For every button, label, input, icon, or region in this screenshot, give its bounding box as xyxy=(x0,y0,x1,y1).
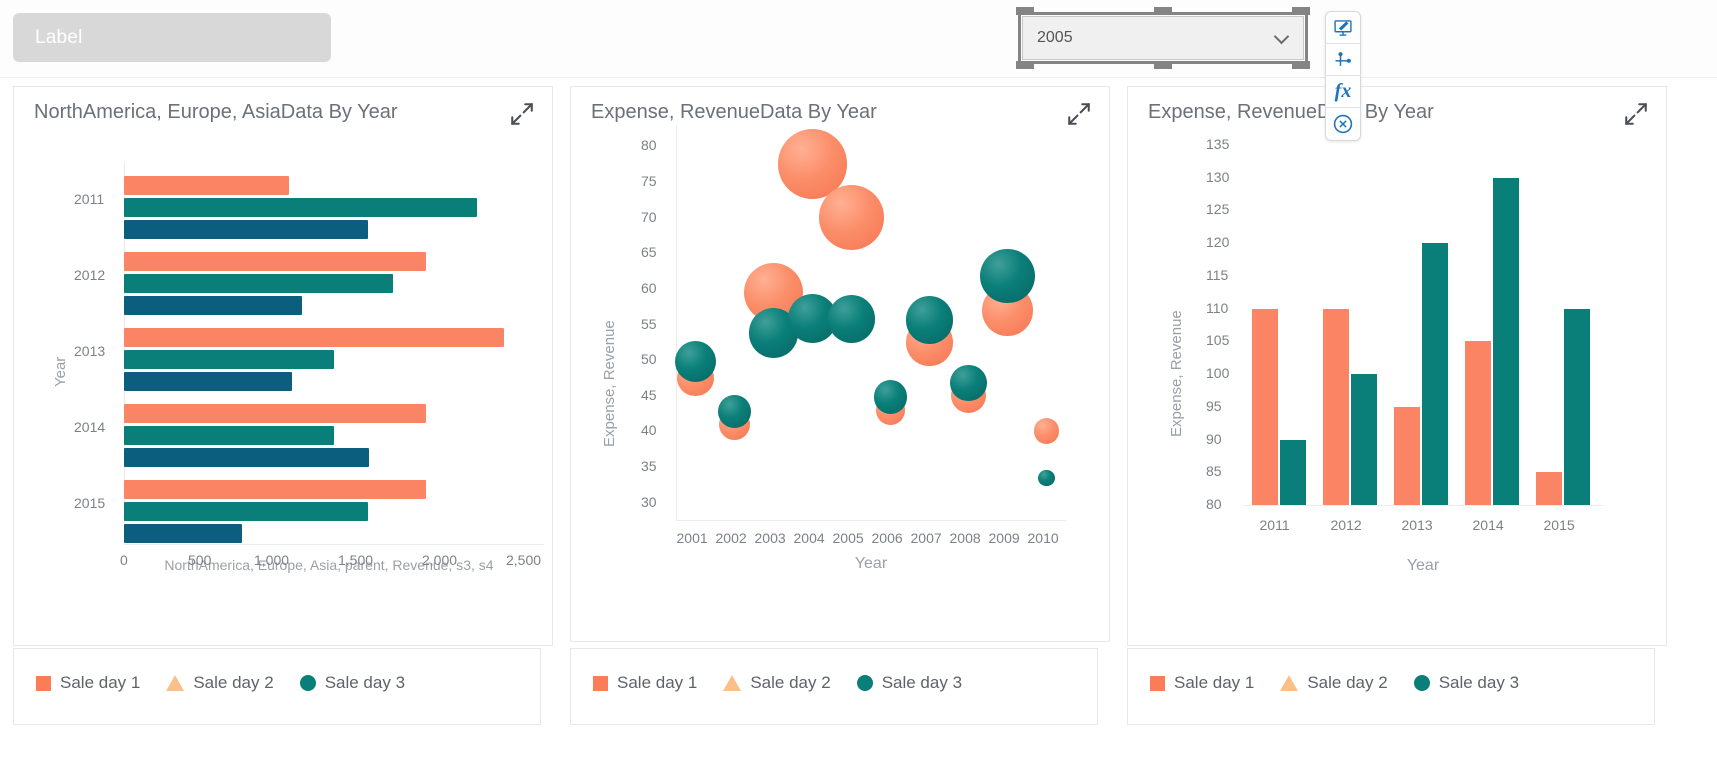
chevron-down-icon xyxy=(1275,31,1289,45)
chart-panel-1: NorthAmerica, Europe, AsiaData By Year Y… xyxy=(13,86,553,646)
chart-2-ytick: 80 xyxy=(641,137,657,153)
chart-2-xtick: 2002 xyxy=(716,530,747,546)
chart-2-bubble xyxy=(906,296,954,344)
chart-3-ytick: 105 xyxy=(1206,332,1229,348)
chart-3-ytick: 100 xyxy=(1206,365,1229,381)
chart-3-column xyxy=(1280,440,1306,505)
resize-handle-top-left[interactable] xyxy=(1016,7,1034,15)
legend-container: Sale day 1 Sale day 2 Sale day 3 Sale da… xyxy=(0,648,1717,778)
legend-label: Sale day 2 xyxy=(750,673,830,693)
chart-2-title: Expense, RevenueData By Year xyxy=(591,101,877,124)
year-select[interactable]: 2005 xyxy=(1022,16,1304,60)
chart-1-bar xyxy=(124,274,393,293)
chart-2-ytick: 40 xyxy=(641,422,657,438)
expand-diagonal-icon[interactable] xyxy=(509,101,535,127)
chart-2-xtick: 2005 xyxy=(833,530,864,546)
expand-diagonal-icon[interactable] xyxy=(1066,101,1092,127)
circle-marker-icon xyxy=(1414,675,1430,691)
chart-1-xtick: 1,000 xyxy=(254,552,289,568)
square-marker-icon xyxy=(36,676,51,691)
chart-2-x-axis-line xyxy=(676,520,1066,521)
chart-2-bubble xyxy=(1038,470,1054,486)
chart-2-xtick: 2008 xyxy=(950,530,981,546)
chart-2-bubble xyxy=(819,185,884,250)
legend-label: Sale day 3 xyxy=(325,673,405,693)
triangle-marker-icon xyxy=(166,675,184,691)
chart-3-column xyxy=(1252,309,1278,505)
chart-1-bar xyxy=(124,480,426,499)
chart-3-xtick: 2012 xyxy=(1331,517,1362,533)
year-select-wrapper[interactable]: 2005 xyxy=(1018,12,1308,64)
triangle-marker-icon xyxy=(1280,675,1298,691)
legend-label: Sale day 1 xyxy=(60,673,140,693)
chart-2-bubble xyxy=(718,395,751,428)
chart-3-ytick: 135 xyxy=(1206,136,1229,152)
chart-2-xtick: 2009 xyxy=(989,530,1020,546)
chart-2-bubble xyxy=(950,365,987,402)
chart-2-xtick: 2007 xyxy=(911,530,942,546)
chart-2-ytick: 70 xyxy=(641,209,657,225)
chart-1-xtick: 0 xyxy=(120,552,128,568)
chart-2-plot-area xyxy=(676,132,1066,517)
legend-card-3: Sale day 1 Sale day 2 Sale day 3 xyxy=(1127,648,1655,725)
legend-item-sale-day-1[interactable]: Sale day 1 xyxy=(1150,673,1254,693)
chart-1-bar xyxy=(124,426,334,445)
chart-3-column xyxy=(1493,178,1519,505)
chart-3-ytick: 95 xyxy=(1206,398,1222,414)
square-marker-icon xyxy=(1150,676,1165,691)
chart-2-ytick: 75 xyxy=(641,173,657,189)
chart-1-bar xyxy=(124,328,504,347)
chart-1-bar xyxy=(124,502,368,521)
chart-1-x-axis-line xyxy=(124,544,544,545)
formula-fx-label: fx xyxy=(1335,80,1352,103)
chart-1-bar xyxy=(124,220,368,239)
chart-3-column xyxy=(1351,374,1377,505)
chart-3-ytick: 130 xyxy=(1206,169,1229,185)
label-placeholder-text: Label xyxy=(35,27,83,49)
chart-3-xtick: 2015 xyxy=(1544,517,1575,533)
circle-marker-icon xyxy=(857,675,873,691)
chart-2-xtick: 2006 xyxy=(872,530,903,546)
chart-1-ytick: 2014 xyxy=(74,419,105,435)
chart-1-bar xyxy=(124,176,289,195)
chart-2-ytick: 60 xyxy=(641,280,657,296)
chart-2-bubble xyxy=(980,249,1034,303)
chart-1-xtick: 2,500 xyxy=(506,552,541,568)
chart-2-xtick: 2001 xyxy=(677,530,708,546)
chart-3-column xyxy=(1323,309,1349,505)
resize-handle-bottom-center[interactable] xyxy=(1154,61,1172,69)
square-marker-icon xyxy=(593,676,608,691)
chart-3-column xyxy=(1394,407,1420,505)
chart-1-bar xyxy=(124,404,426,423)
chart-1-x-axis-title: NorthAmerica, Europe, Asia, parent, Reve… xyxy=(114,557,544,573)
chart-3-x-axis-line xyxy=(1243,505,1603,506)
chart-2-xtick: 2003 xyxy=(755,530,786,546)
chart-1-bar xyxy=(124,372,292,391)
chart-1-ytick: 2011 xyxy=(74,191,104,207)
chart-2-bubble xyxy=(1034,418,1060,444)
chart-2-ytick: 50 xyxy=(641,351,657,367)
chart-panel-3: Expense, RevenueData By Year Expense, Re… xyxy=(1127,86,1667,646)
chart-1-plot-area xyxy=(124,162,544,542)
chart-3-ytick: 80 xyxy=(1206,496,1222,512)
chart-3-ytick: 115 xyxy=(1206,267,1228,283)
legend-item-sale-day-1[interactable]: Sale day 1 xyxy=(36,673,140,693)
chart-1-ytick: 2012 xyxy=(74,267,105,283)
chart-1-xtick: 2,000 xyxy=(422,552,457,568)
chart-3-ytick: 110 xyxy=(1206,300,1228,316)
close-circle-icon[interactable] xyxy=(1325,108,1361,140)
chart-3-ytick: 90 xyxy=(1206,431,1222,447)
charts-container: NorthAmerica, Europe, AsiaData By Year Y… xyxy=(0,86,1717,686)
chart-2-ytick: 35 xyxy=(641,458,657,474)
chart-2-ytick: 55 xyxy=(641,316,657,332)
resize-handle-bottom-right[interactable] xyxy=(1292,61,1310,69)
chart-1-bar xyxy=(124,252,426,271)
floating-toolbar: fx xyxy=(1325,11,1361,141)
resize-handle-bottom-left[interactable] xyxy=(1016,61,1034,69)
chart-2-ytick: 30 xyxy=(641,494,657,510)
chart-3-column xyxy=(1465,341,1491,505)
legend-item-sale-day-1[interactable]: Sale day 1 xyxy=(593,673,697,693)
circle-marker-icon xyxy=(300,675,316,691)
legend-label: Sale day 3 xyxy=(882,673,962,693)
chart-3-column xyxy=(1422,243,1448,505)
legend-item-sale-day-3[interactable]: Sale day 3 xyxy=(1414,673,1519,693)
legend-card-2: Sale day 1 Sale day 2 Sale day 3 xyxy=(570,648,1098,725)
chart-1-xtick: 1,500 xyxy=(338,552,373,568)
legend-label: Sale day 2 xyxy=(193,673,273,693)
chart-2-x-axis-title: Year xyxy=(676,555,1066,573)
chart-1-xtick: 500 xyxy=(188,552,211,568)
resize-handle-top-right[interactable] xyxy=(1292,7,1310,15)
legend-label: Sale day 1 xyxy=(1174,673,1254,693)
chart-3-title: Expense, RevenueData By Year xyxy=(1148,101,1434,124)
chart-1-bar xyxy=(124,296,302,315)
triangle-marker-icon xyxy=(723,675,741,691)
chart-1-bar xyxy=(124,524,242,543)
legend-item-sale-day-2[interactable]: Sale day 2 xyxy=(166,673,273,693)
chart-3-plot-area xyxy=(1243,145,1598,505)
chart-3-column xyxy=(1536,472,1562,505)
chart-3-ytick: 120 xyxy=(1206,234,1229,250)
chart-3-ytick: 85 xyxy=(1206,463,1222,479)
chart-3-xtick: 2011 xyxy=(1260,517,1290,533)
chart-1-title: NorthAmerica, Europe, AsiaData By Year xyxy=(34,101,398,124)
chart-3-y-axis-title: Expense, Revenue xyxy=(1168,310,1185,437)
legend-item-sale-day-2[interactable]: Sale day 2 xyxy=(1280,673,1387,693)
formula-fx-icon[interactable]: fx xyxy=(1325,76,1361,108)
legend-item-sale-day-3[interactable]: Sale day 3 xyxy=(300,673,405,693)
chart-3-x-axis-title: Year xyxy=(1243,557,1603,575)
chart-3-column xyxy=(1564,309,1590,505)
chart-panel-2: Expense, RevenueData By Year Expense, Re… xyxy=(570,86,1110,642)
legend-card-1: Sale day 1 Sale day 2 Sale day 3 xyxy=(13,648,541,725)
chart-3-ytick: 125 xyxy=(1206,201,1229,217)
chart-3-xtick: 2013 xyxy=(1402,517,1433,533)
legend-item-sale-day-2[interactable]: Sale day 2 xyxy=(723,673,830,693)
app-root: Label 2005 xyxy=(0,0,1717,782)
chart-2-bubble xyxy=(675,341,716,382)
legend-item-sale-day-3[interactable]: Sale day 3 xyxy=(857,673,962,693)
chart-1-ytick: 2015 xyxy=(74,495,105,511)
chart-2-xtick: 2004 xyxy=(794,530,825,546)
chart-1-bar xyxy=(124,198,477,217)
legend-label: Sale day 1 xyxy=(617,673,697,693)
resize-handle-top-center[interactable] xyxy=(1154,7,1172,15)
chart-3-xtick: 2014 xyxy=(1473,517,1504,533)
axis-connector-icon[interactable] xyxy=(1325,44,1361,76)
chart-2-bubble xyxy=(828,295,876,343)
chart-1-y-axis-title: Year xyxy=(52,357,69,387)
chart-2-ytick: 45 xyxy=(641,387,657,403)
edit-in-monitor-icon[interactable] xyxy=(1325,12,1361,44)
chart-1-bar xyxy=(124,350,334,369)
year-select-value: 2005 xyxy=(1037,29,1275,47)
chart-1-bar xyxy=(124,448,369,467)
expand-diagonal-icon[interactable] xyxy=(1623,101,1649,127)
label-placeholder-box[interactable]: Label xyxy=(13,13,331,62)
legend-label: Sale day 2 xyxy=(1307,673,1387,693)
chart-2-xtick: 2010 xyxy=(1028,530,1059,546)
chart-2-y-axis-title: Expense, Revenue xyxy=(601,320,618,447)
legend-label: Sale day 3 xyxy=(1439,673,1519,693)
chart-1-ytick: 2013 xyxy=(74,343,105,359)
chart-2-ytick: 65 xyxy=(641,244,657,260)
